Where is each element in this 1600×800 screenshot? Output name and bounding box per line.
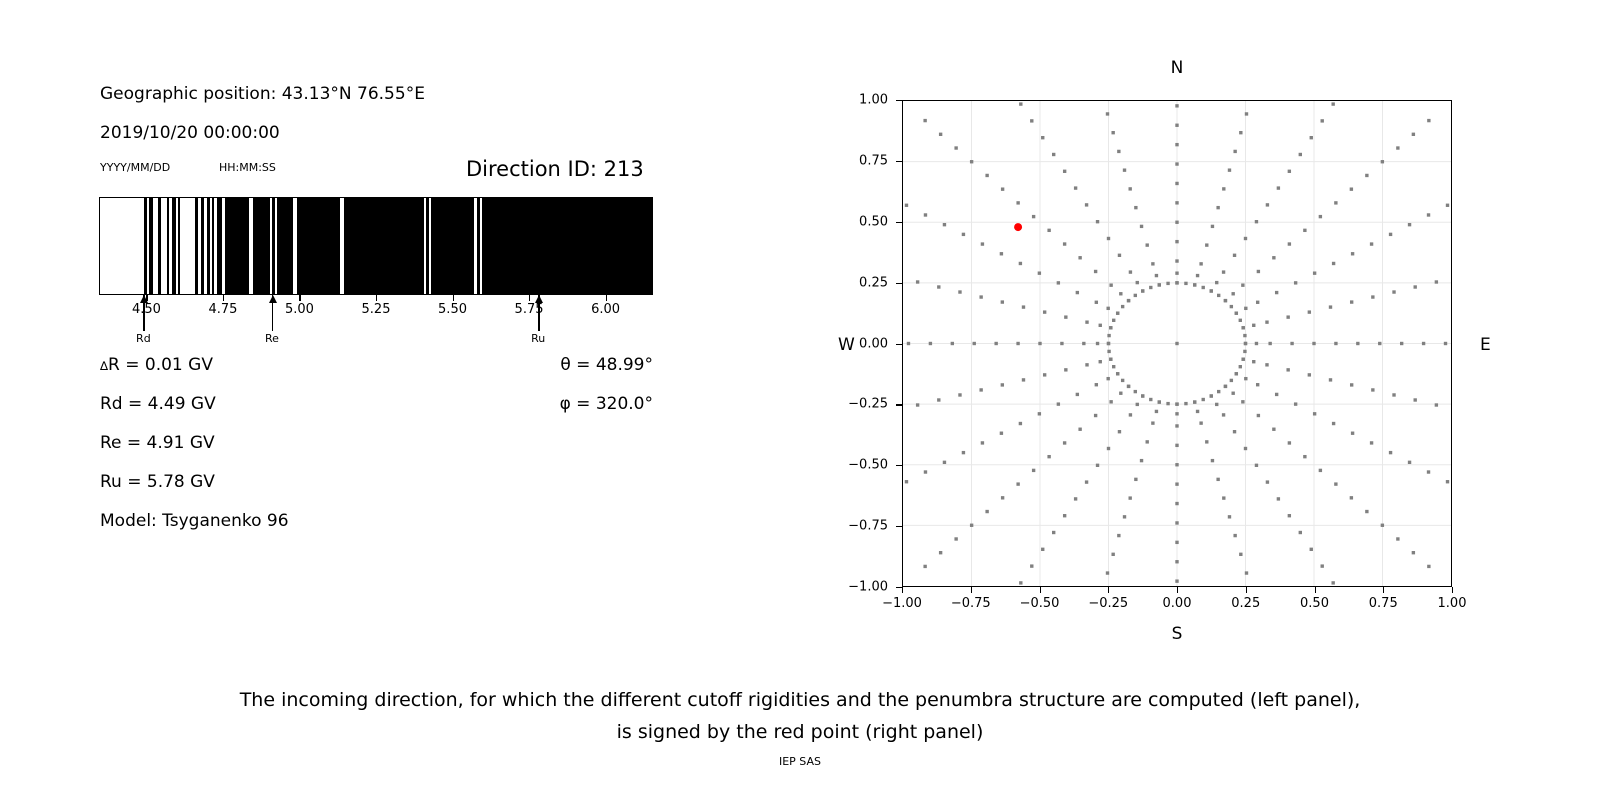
marker-arrowhead <box>269 295 277 303</box>
direction-dot <box>1166 402 1169 405</box>
direction-dot <box>1141 394 1144 397</box>
direction-dot <box>1412 133 1415 136</box>
direction-dot <box>1175 124 1178 127</box>
direction-dot <box>1365 174 1368 177</box>
penumbra-axis-tick <box>299 295 300 301</box>
direction-dot <box>1299 531 1302 534</box>
polar-x-tick-label: 0.00 <box>1163 596 1192 611</box>
direction-dot <box>1231 292 1234 295</box>
direction-dot <box>1400 342 1403 345</box>
direction-dot <box>962 233 965 236</box>
direction-dot <box>1222 413 1225 416</box>
direction-dot <box>1288 242 1291 245</box>
direction-dot <box>1244 447 1247 450</box>
result-re: Re = 4.91 GV <box>100 433 215 453</box>
polar-y-tick-label: 1.00 <box>832 93 888 108</box>
direction-dot <box>1175 482 1178 485</box>
direction-dot <box>981 242 984 245</box>
polar-y-tick-label: 0.00 <box>832 336 888 351</box>
polar-y-tick-label: 0.75 <box>832 153 888 168</box>
direction-dot <box>1222 187 1225 190</box>
figure-caption: The incoming direction, for which the di… <box>0 684 1600 748</box>
polar-y-tick-label: 0.25 <box>832 275 888 290</box>
direction-dot <box>1123 515 1126 518</box>
direction-dot <box>1371 295 1374 298</box>
penumbra-axis-tick <box>453 295 454 301</box>
direction-dot <box>1129 270 1132 273</box>
direction-dot <box>1427 470 1430 473</box>
direction-dot <box>1155 410 1158 413</box>
direction-dot <box>1119 392 1122 395</box>
caption-line-2: is signed by the red point (right panel) <box>0 716 1600 748</box>
direction-dot <box>1106 571 1109 574</box>
direction-dot <box>1233 534 1236 537</box>
polar-x-tick <box>971 587 972 593</box>
penumbra-band <box>217 198 221 294</box>
direction-dot <box>1313 412 1316 415</box>
penumbra-band <box>344 198 424 294</box>
direction-dot <box>1129 187 1132 190</box>
direction-dot <box>1308 310 1311 313</box>
direction-dot <box>1043 310 1046 313</box>
direction-dot <box>1175 162 1178 165</box>
direction-dot <box>1230 305 1233 308</box>
direction-dot <box>1414 398 1417 401</box>
direction-dot <box>1175 104 1178 107</box>
polar-x-tick <box>1177 587 1178 593</box>
penumbra-band <box>207 198 210 294</box>
direction-dot <box>1329 378 1332 381</box>
direction-dot <box>1109 284 1112 287</box>
polar-y-tick-label: 0.50 <box>832 214 888 229</box>
direction-dot <box>1243 334 1246 337</box>
direction-dot <box>1184 282 1187 285</box>
direction-dot <box>1371 388 1374 391</box>
penumbra-bands <box>100 198 652 294</box>
direction-dot <box>1389 233 1392 236</box>
direction-dot <box>1047 229 1050 232</box>
marker-label: Re <box>265 332 279 345</box>
direction-dot <box>943 461 946 464</box>
direction-dot <box>1094 414 1097 417</box>
result-delta-r: ∆R = 0.01 GV <box>100 355 213 375</box>
direction-dot <box>1064 368 1067 371</box>
direction-dot <box>1038 412 1041 415</box>
penumbra-band <box>178 198 180 294</box>
direction-dot <box>1216 478 1219 481</box>
direction-dot <box>1099 324 1102 327</box>
direction-dot <box>1244 237 1247 240</box>
direction-dot <box>1239 365 1242 368</box>
direction-dot <box>1427 213 1430 216</box>
direction-dot <box>1275 393 1278 396</box>
direction-dot <box>1116 311 1119 314</box>
polar-x-tick-label: 0.75 <box>1369 596 1398 611</box>
direction-dot <box>1149 286 1152 289</box>
direction-dot <box>1272 428 1275 431</box>
direction-dot <box>1427 119 1430 122</box>
direction-dot <box>1109 326 1112 329</box>
direction-dot <box>1076 291 1079 294</box>
direction-dot <box>1038 342 1041 345</box>
date-format-hint: YYYY/MM/DD <box>100 161 170 174</box>
direction-dot <box>1085 203 1088 206</box>
direction-dot <box>1381 160 1384 163</box>
direction-dot <box>1094 270 1097 273</box>
direction-dot <box>973 342 976 345</box>
geographic-position-text: Geographic position: 43.13°N 76.55°E <box>100 84 425 104</box>
direction-dot <box>1041 548 1044 551</box>
compass-label-south: S <box>1172 624 1183 644</box>
penumbra-band <box>277 198 293 294</box>
direction-dot <box>929 342 932 345</box>
direction-dot <box>1060 342 1063 345</box>
direction-dot <box>1392 393 1395 396</box>
penumbra-band <box>482 198 652 294</box>
direction-dot <box>939 133 942 136</box>
direction-dot <box>1396 537 1399 540</box>
direction-dot <box>924 213 927 216</box>
direction-dot <box>939 551 942 554</box>
direction-dot <box>1329 305 1332 308</box>
direction-dot <box>1228 515 1231 518</box>
direction-grid-panel <box>902 100 1452 587</box>
penumbra-band <box>195 198 198 294</box>
polar-x-tick-label: 0.25 <box>1231 596 1260 611</box>
polar-x-tick <box>1452 587 1453 593</box>
direction-dot <box>1107 350 1110 353</box>
polar-x-tick-label: 1.00 <box>1438 596 1467 611</box>
polar-x-tick <box>1315 587 1316 593</box>
direction-dot <box>1175 412 1178 415</box>
polar-x-tick-label: −1.00 <box>882 596 922 611</box>
penumbra-band <box>167 198 169 294</box>
penumbra-axis-tick-label: 5.00 <box>285 302 314 317</box>
direction-dot <box>1222 496 1225 499</box>
polar-x-tick-label: 0.50 <box>1300 596 1329 611</box>
direction-dot <box>1239 131 1242 134</box>
direction-dot <box>1117 150 1120 153</box>
direction-dot <box>962 451 965 454</box>
direction-dot <box>1446 204 1449 207</box>
direction-dot <box>1205 243 1208 246</box>
direction-dot <box>951 342 954 345</box>
direction-dot <box>1106 377 1109 380</box>
penumbra-band <box>212 198 214 294</box>
direction-dot <box>1175 259 1178 262</box>
direction-dot <box>924 470 927 473</box>
direction-dot <box>907 342 910 345</box>
direction-dot <box>1435 280 1438 283</box>
direction-dot <box>1389 451 1392 454</box>
direction-dot <box>1312 342 1315 345</box>
direction-dot <box>1215 403 1218 406</box>
direction-dot <box>1408 461 1411 464</box>
direction-dot <box>1351 432 1354 435</box>
direction-dot <box>1016 201 1019 204</box>
delta-symbol: ∆ <box>100 359 108 373</box>
direction-dot <box>1052 531 1055 534</box>
direction-dot <box>923 119 926 122</box>
direction-dot <box>1334 482 1337 485</box>
direction-dot <box>1396 146 1399 149</box>
direction-dot <box>1134 206 1137 209</box>
direction-dot <box>1350 383 1353 386</box>
direction-dot <box>1000 432 1003 435</box>
direction-dot <box>1082 342 1085 345</box>
direction-dot <box>1224 299 1227 302</box>
direction-dot <box>1378 342 1381 345</box>
direction-dot <box>1370 242 1373 245</box>
direction-dot <box>1193 400 1196 403</box>
direction-dot <box>1184 402 1187 405</box>
direction-dot <box>1136 281 1139 284</box>
direction-dot <box>1308 373 1311 376</box>
direction-dot <box>1277 186 1280 189</box>
direction-dot <box>1294 402 1297 405</box>
direction-dot <box>1146 440 1149 443</box>
polar-x-tick <box>1108 587 1109 593</box>
direction-dot <box>1136 403 1139 406</box>
direction-dot <box>1175 182 1178 185</box>
direction-dot <box>1334 201 1337 204</box>
direction-dot <box>1381 524 1384 527</box>
direction-dot <box>1166 282 1169 285</box>
direction-dot <box>1272 256 1275 259</box>
direction-dot <box>1277 497 1280 500</box>
direction-dot <box>1230 379 1233 382</box>
direction-dot <box>1256 383 1259 386</box>
direction-dot <box>1095 383 1098 386</box>
direction-dot <box>1228 168 1231 171</box>
direction-dot <box>1047 455 1050 458</box>
penumbra-axis-tick-label: 5.50 <box>438 302 467 317</box>
polar-y-tick <box>896 465 902 466</box>
penumbra-axis-tick-label: 6.00 <box>591 302 620 317</box>
direction-dot <box>1334 342 1337 345</box>
marker-label: Rd <box>136 332 151 345</box>
selected-direction-point[interactable] <box>1014 223 1022 231</box>
direction-dot <box>1175 521 1178 524</box>
polar-y-tick <box>896 161 902 162</box>
direction-dot <box>958 393 961 396</box>
direction-dot <box>1299 153 1302 156</box>
direction-dot <box>1233 430 1236 433</box>
direction-dot <box>1129 413 1132 416</box>
polar-x-tick <box>1383 587 1384 593</box>
polar-y-tick <box>896 526 902 527</box>
penumbra-axis-tick <box>376 295 377 301</box>
direction-dot <box>943 223 946 226</box>
direction-dot <box>1106 307 1109 310</box>
direction-dot <box>1241 284 1244 287</box>
direction-dot <box>1446 480 1449 483</box>
direction-dot <box>1255 342 1258 345</box>
selected-direction-marker[interactable] <box>1014 223 1022 231</box>
direction-dot <box>1196 274 1199 277</box>
direction-dot <box>1149 398 1152 401</box>
direction-dot <box>1030 564 1033 567</box>
direction-dot <box>1224 385 1227 388</box>
polar-x-tick <box>1040 587 1041 593</box>
direction-dot <box>1134 294 1137 297</box>
direction-dot <box>1235 372 1238 375</box>
direction-id-label: Direction ID: 213 <box>466 157 644 181</box>
direction-dot <box>1076 393 1079 396</box>
direction-dot <box>1196 410 1199 413</box>
penumbra-band <box>158 198 160 294</box>
direction-dot <box>1215 281 1218 284</box>
direction-dot <box>1107 342 1110 345</box>
direction-dot <box>1435 403 1438 406</box>
result-rd: Rd = 4.49 GV <box>100 394 216 414</box>
direction-dot <box>1175 221 1178 224</box>
penumbra-band <box>149 198 153 294</box>
direction-dot <box>1351 252 1354 255</box>
direction-dot <box>1118 254 1121 257</box>
direction-dot <box>1078 256 1081 259</box>
direction-dot <box>1175 579 1178 582</box>
direction-dot <box>1245 112 1248 115</box>
direction-dot <box>1112 365 1115 368</box>
direction-dot <box>1241 400 1244 403</box>
delta-r-value: R = 0.01 GV <box>108 355 213 375</box>
direction-dot <box>916 403 919 406</box>
direction-dot <box>1241 326 1244 329</box>
direction-dot <box>1245 571 1248 574</box>
direction-dot <box>954 146 957 149</box>
direction-dot <box>1319 215 1322 218</box>
direction-scatter-svg <box>903 101 1451 586</box>
direction-dot <box>1275 291 1278 294</box>
penumbra-band <box>225 198 249 294</box>
direction-dot <box>1233 150 1236 153</box>
direction-dot <box>1107 447 1110 450</box>
direction-dot <box>1074 186 1077 189</box>
direction-dot <box>1175 502 1178 505</box>
polar-y-tick <box>896 404 902 405</box>
direction-dot <box>1096 342 1099 345</box>
direction-dot <box>1199 421 1202 424</box>
direction-dot <box>1001 383 1004 386</box>
direction-dot <box>1063 242 1066 245</box>
direction-dot <box>1032 469 1035 472</box>
direction-dot <box>1193 283 1196 286</box>
direction-dot <box>1175 402 1178 405</box>
direction-dot <box>1175 444 1178 447</box>
direction-dot <box>1019 422 1022 425</box>
direction-dot <box>1222 270 1225 273</box>
direction-dot <box>1266 203 1269 206</box>
direction-dot <box>1266 480 1269 483</box>
direction-dot <box>1111 553 1114 556</box>
direction-dot <box>1412 551 1415 554</box>
penumbra-axis-tick-label: 4.50 <box>132 302 161 317</box>
direction-dot <box>1134 478 1137 481</box>
direction-dot <box>1052 153 1055 156</box>
penumbra-band <box>144 198 146 294</box>
direction-dot <box>1063 170 1066 173</box>
direction-dot <box>1175 342 1178 345</box>
direction-dot <box>1158 283 1161 286</box>
penumbra-band <box>272 198 274 294</box>
time-format-hint: HH:MM:SS <box>219 161 276 174</box>
penumbra-band <box>172 198 176 294</box>
direction-dot <box>1332 422 1335 425</box>
direction-dot <box>1310 136 1313 139</box>
direction-dot <box>1257 270 1260 273</box>
caption-line-1: The incoming direction, for which the di… <box>0 684 1600 716</box>
direction-dot <box>985 174 988 177</box>
direction-dot <box>1288 170 1291 173</box>
direction-dot <box>1019 581 1022 584</box>
polar-y-tick-label: −0.25 <box>832 397 888 412</box>
polar-x-tick-label: −0.25 <box>1088 596 1128 611</box>
result-phi: φ = 320.0° <box>420 394 653 414</box>
direction-dot <box>1252 360 1255 363</box>
direction-dot <box>1210 289 1213 292</box>
direction-dot <box>1265 320 1268 323</box>
penumbra-axis-tick <box>529 295 530 301</box>
direction-dot <box>1256 301 1259 304</box>
direction-dot <box>1414 285 1417 288</box>
direction-dot <box>1332 262 1335 265</box>
direction-dot <box>1392 290 1395 293</box>
direction-dot <box>1151 421 1154 424</box>
polar-x-tick <box>1246 587 1247 593</box>
direction-dot <box>937 285 940 288</box>
direction-dot <box>1321 119 1324 122</box>
direction-dot <box>1085 480 1088 483</box>
direction-dot <box>1239 319 1242 322</box>
direction-dot <box>1233 254 1236 257</box>
direction-dot <box>1175 240 1178 243</box>
compass-label-north: N <box>1171 58 1184 78</box>
direction-dot <box>979 388 982 391</box>
datetime-text: 2019/10/20 00:00:00 <box>100 123 280 143</box>
direction-dot <box>1019 262 1022 265</box>
direction-dot <box>1127 385 1130 388</box>
direction-dot <box>1116 372 1119 375</box>
direction-dot <box>1331 581 1334 584</box>
direction-dot <box>1356 342 1359 345</box>
direction-dot <box>1244 307 1247 310</box>
penumbra-band <box>431 198 474 294</box>
direction-dot <box>1085 363 1088 366</box>
direction-dot <box>923 565 926 568</box>
direction-dot <box>1217 294 1220 297</box>
direction-dot <box>958 290 961 293</box>
direction-dot <box>1365 510 1368 513</box>
direction-dot <box>1151 262 1154 265</box>
direction-dot <box>1121 379 1124 382</box>
direction-dot <box>1243 350 1246 353</box>
direction-dot <box>1205 440 1208 443</box>
polar-y-tick-label: −0.50 <box>832 458 888 473</box>
direction-dot <box>1016 342 1019 345</box>
direction-dot <box>1107 237 1110 240</box>
direction-dot <box>1422 342 1425 345</box>
direction-dot <box>1109 400 1112 403</box>
direction-dot <box>985 510 988 513</box>
direction-dot <box>979 295 982 298</box>
direction-dot <box>1199 262 1202 265</box>
direction-dot <box>1290 342 1293 345</box>
direction-dot <box>1217 390 1220 393</box>
direction-dot <box>1444 342 1447 345</box>
direction-dot <box>1155 274 1158 277</box>
direction-dot <box>1146 243 1149 246</box>
